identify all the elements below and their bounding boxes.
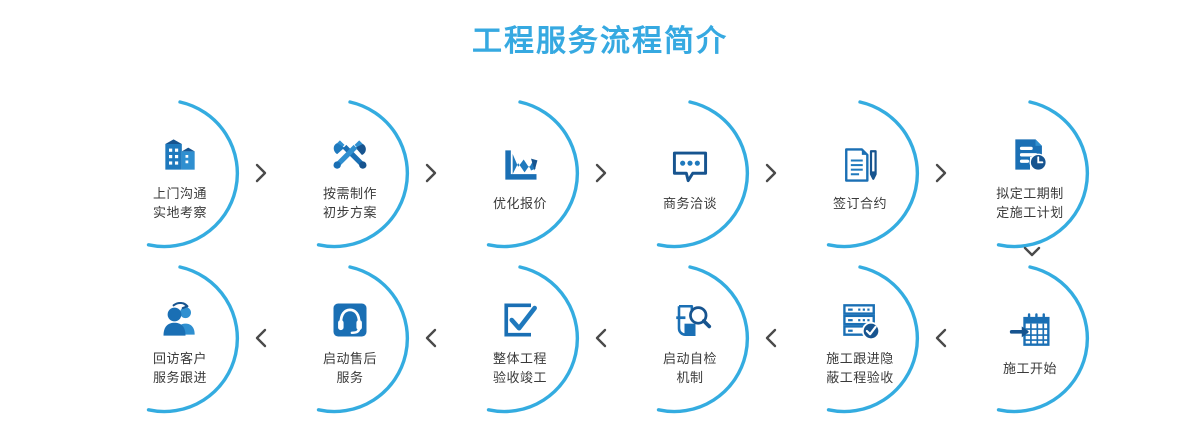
flow-node-10[interactable]: 整体工程 验收竣工 (444, 264, 596, 416)
flow-node-label: 签订合约 (833, 194, 887, 213)
flow-node-6[interactable]: 拟定工期制 定施工计划 (954, 99, 1106, 251)
declining-chart-icon (497, 142, 543, 188)
flow-node-label: 商务洽谈 (663, 194, 717, 213)
checkmark-box-icon (497, 297, 543, 343)
flow-node-label: 整体工程 验收竣工 (493, 349, 547, 387)
document-clock-icon (1007, 132, 1053, 178)
flow-node-label: 施工跟进隐 蔽工程验收 (826, 349, 894, 387)
chevron-left-icon (762, 326, 780, 350)
contract-pen-icon (837, 142, 883, 188)
flow-node-label: 上门沟通 实地考察 (153, 184, 207, 222)
flow-node-label: 优化报价 (493, 194, 547, 213)
flow-node-7[interactable]: 施工开始 (954, 264, 1106, 416)
chevron-right-icon (932, 161, 950, 185)
chevron-left-icon (422, 326, 440, 350)
chevron-right-icon (592, 161, 610, 185)
headset-icon (327, 297, 373, 343)
chevron-right-icon (762, 161, 780, 185)
flow-node-label: 按需制作 初步方案 (323, 184, 377, 222)
tools-wrench-icon (327, 132, 373, 178)
flow-node-4[interactable]: 商务洽谈 (614, 99, 766, 251)
flow-node-label: 施工开始 (1003, 359, 1057, 378)
flow-node-9[interactable]: 启动自检 机制 (614, 264, 766, 416)
chevron-right-icon (252, 161, 270, 185)
flow-node-12[interactable]: 回访客户 服务跟进 (104, 264, 256, 416)
flow-node-label: 启动售后 服务 (323, 349, 377, 387)
chat-bubble-icon (667, 142, 713, 188)
chevron-left-icon (932, 326, 950, 350)
flow-row-bottom: 回访客户 服务跟进 (0, 260, 1200, 420)
two-people-icon (157, 297, 203, 343)
chevron-right-icon (422, 161, 440, 185)
building-icon (157, 132, 203, 178)
flow-node-8[interactable]: 施工跟进隐 蔽工程验收 (784, 264, 936, 416)
flow-node-label: 启动自检 机制 (663, 349, 717, 387)
page-title: 工程服务流程简介 (0, 22, 1200, 62)
flow-node-2[interactable]: 按需制作 初步方案 (274, 99, 426, 251)
flow-node-1[interactable]: 上门沟通 实地考察 (104, 99, 256, 251)
calendar-arrow-icon (1007, 307, 1053, 353)
flow-node-label: 回访客户 服务跟进 (153, 349, 207, 387)
flow-node-3[interactable]: 优化报价 (444, 99, 596, 251)
chevron-left-icon (252, 326, 270, 350)
flow-node-5[interactable]: 签订合约 (784, 99, 936, 251)
flow-node-label: 拟定工期制 定施工计划 (996, 184, 1064, 222)
chevron-left-icon (592, 326, 610, 350)
document-search-icon (667, 297, 713, 343)
flow-row-top: 上门沟通 实地考察 (0, 95, 1200, 255)
flow-node-11[interactable]: 启动售后 服务 (274, 264, 426, 416)
process-flow-infographic: 工程服务流程简介 (0, 0, 1200, 440)
server-check-icon (837, 297, 883, 343)
